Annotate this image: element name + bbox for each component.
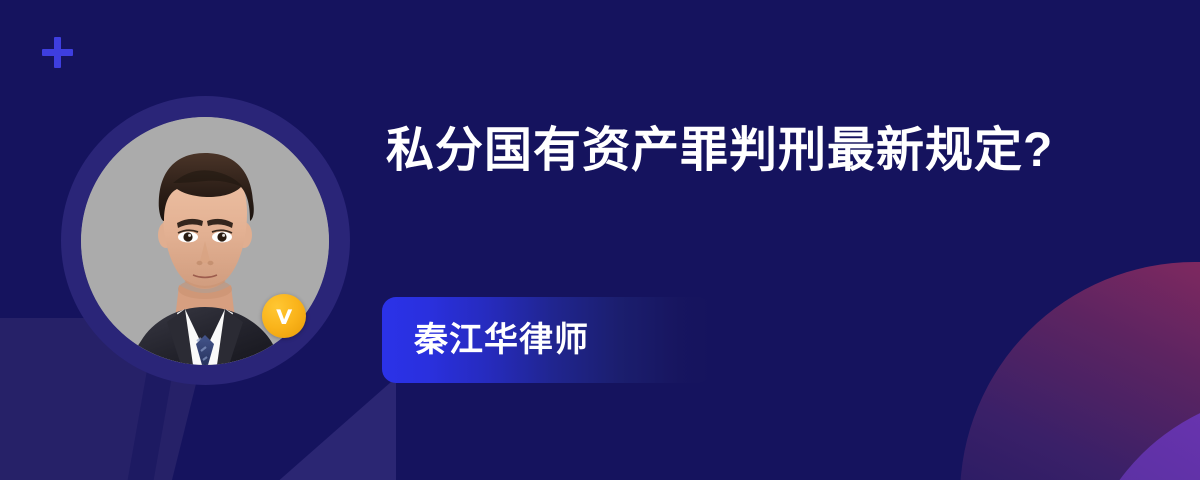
lawyer-qa-banner: 私分国有资产罪判刑最新规定? 秦江华律师 xyxy=(0,0,1200,480)
plus-icon xyxy=(42,37,73,68)
decor-purple-circle xyxy=(1078,392,1200,480)
lawyer-name-badge[interactable]: 秦江华律师 xyxy=(382,297,712,383)
page-title: 私分国有资产罪判刑最新规定? xyxy=(386,118,1086,184)
decor-crimson-circle xyxy=(960,262,1200,480)
headline-block: 私分国有资产罪判刑最新规定? xyxy=(386,118,1176,184)
lawyer-name-label: 秦江华律师 xyxy=(414,323,589,357)
verified-v-badge-icon xyxy=(262,294,306,338)
avatar[interactable] xyxy=(61,96,350,385)
